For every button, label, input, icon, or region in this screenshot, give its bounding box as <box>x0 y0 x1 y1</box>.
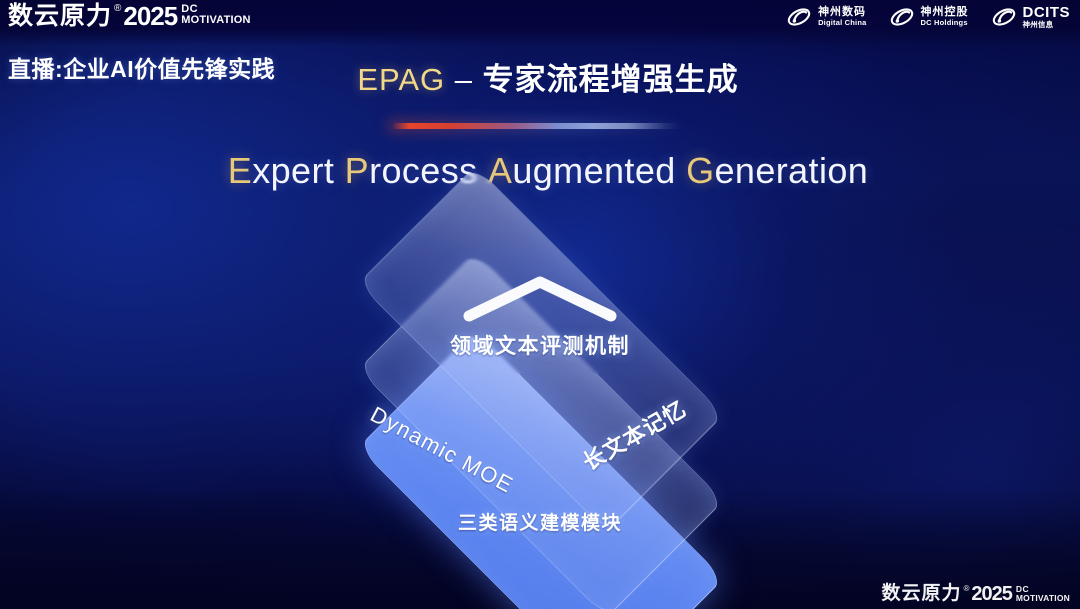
slide-canvas: 数云原力 ® 2025 DC MOTIVATION 直播:企业AI价值先锋实践 … <box>0 0 1080 609</box>
brand-name-cn: 数云原力 <box>881 583 961 605</box>
stack-label-bottom: 三类语义建模模块 <box>0 508 1080 535</box>
chevron-up-icon <box>463 272 617 324</box>
brand-year: 2025 <box>971 583 1012 605</box>
stack-label-top: 领域文本评测机制 <box>0 330 1080 360</box>
brand-logo-watermark: 数云原力 ® 2025 DC MOTIVATION <box>881 583 1070 605</box>
brand-dc-motivation: DC MOTIVATION <box>1016 585 1070 602</box>
layer-stack-diagram: 领域文本评测机制 Dynamic MOE 长文本记忆 三类语义建模模块 <box>0 0 1080 609</box>
brand-registered-mark: ® <box>963 583 969 594</box>
brand-motivation-label: MOTIVATION <box>1016 594 1070 603</box>
